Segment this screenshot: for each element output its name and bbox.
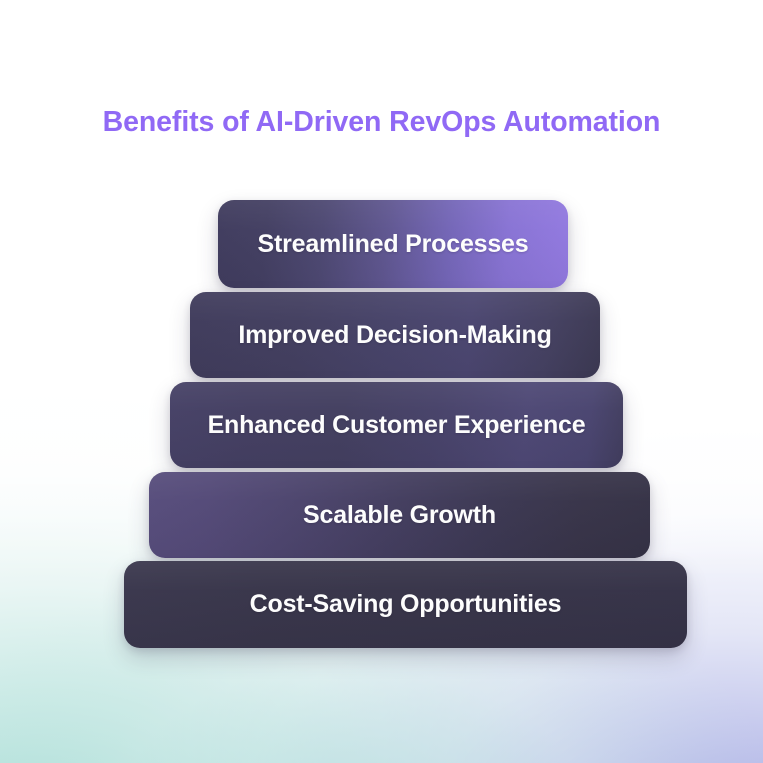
pyramid-level-4-label: Scalable Growth bbox=[303, 501, 496, 530]
pyramid-level-2[interactable]: Improved Decision-Making bbox=[190, 292, 600, 378]
pyramid-level-1[interactable]: Streamlined Processes bbox=[218, 200, 568, 288]
infographic-canvas: Benefits of AI-Driven RevOps Automation … bbox=[0, 0, 763, 763]
pyramid-level-1-label: Streamlined Processes bbox=[258, 230, 529, 259]
pyramid-level-5[interactable]: Cost-Saving Opportunities bbox=[124, 561, 687, 648]
pyramid-level-3-label: Enhanced Customer Experience bbox=[208, 411, 586, 440]
pyramid-level-5-label: Cost-Saving Opportunities bbox=[250, 590, 562, 619]
pyramid-chart: Streamlined Processes Improved Decision-… bbox=[0, 0, 763, 763]
pyramid-level-4[interactable]: Scalable Growth bbox=[149, 472, 650, 558]
pyramid-level-3[interactable]: Enhanced Customer Experience bbox=[170, 382, 623, 468]
pyramid-level-2-label: Improved Decision-Making bbox=[238, 321, 551, 350]
